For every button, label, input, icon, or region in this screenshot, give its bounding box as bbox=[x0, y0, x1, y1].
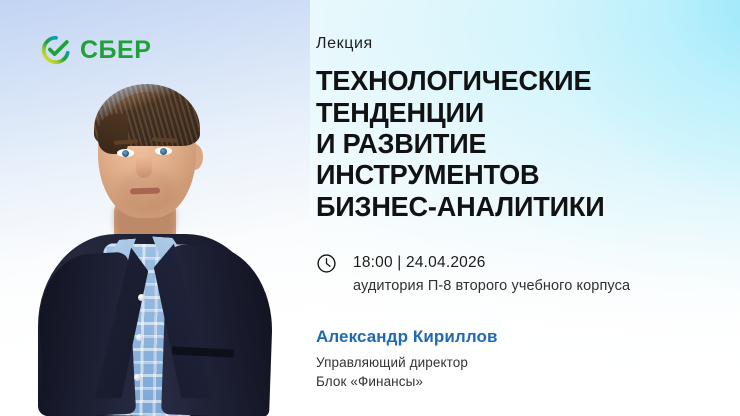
title-line: ТЕХНОЛОГИЧЕСКИЕ bbox=[316, 65, 710, 96]
portrait-eye-left bbox=[117, 149, 134, 157]
event-kicker: Лекция bbox=[316, 34, 716, 53]
event-content: Лекция ТЕХНОЛОГИЧЕСКИЕ ТЕНДЕНЦИИ И РАЗВИ… bbox=[316, 34, 716, 392]
event-location: аудитория П-8 второго учебного корпуса bbox=[353, 275, 630, 298]
portrait-mouth bbox=[130, 187, 160, 194]
title-line: БИЗНЕС-АНАЛИТИКИ bbox=[316, 191, 710, 222]
portrait-eye-right bbox=[155, 147, 172, 155]
speaker-role: Управляющий директор bbox=[316, 353, 716, 372]
lecture-poster: СБЕР Лекция ТЕХНОЛОГИЧЕСКИЕ bbox=[0, 0, 740, 416]
title-line: И РАЗВИТИЕ bbox=[316, 128, 710, 159]
title-line: ИНСТРУМЕНТОВ bbox=[316, 159, 710, 190]
event-title: ТЕХНОЛОГИЧЕСКИЕ ТЕНДЕНЦИИ И РАЗВИТИЕ ИНС… bbox=[316, 65, 710, 222]
portrait-shirt-button bbox=[138, 294, 145, 301]
speaker-info: Александр Кириллов Управляющий директор … bbox=[316, 326, 716, 391]
speaker-name: Александр Кириллов bbox=[316, 326, 716, 348]
speaker-photo bbox=[18, 58, 276, 416]
portrait-shirt-button bbox=[136, 334, 143, 341]
title-line: ТЕНДЕНЦИИ bbox=[316, 97, 710, 128]
event-schedule: 18:00 | 24.04.2026 аудитория П-8 второго… bbox=[316, 251, 716, 298]
portrait-nose bbox=[136, 156, 152, 178]
schedule-lines: 18:00 | 24.04.2026 аудитория П-8 второго… bbox=[353, 251, 630, 298]
portrait-hair bbox=[94, 84, 200, 146]
clock-icon bbox=[316, 253, 337, 279]
speaker-unit: Блок «Финансы» bbox=[316, 372, 716, 391]
portrait-lapel-pin bbox=[174, 296, 183, 305]
portrait-bottom-fade bbox=[8, 372, 294, 416]
event-datetime: 18:00 | 24.04.2026 bbox=[353, 251, 630, 275]
